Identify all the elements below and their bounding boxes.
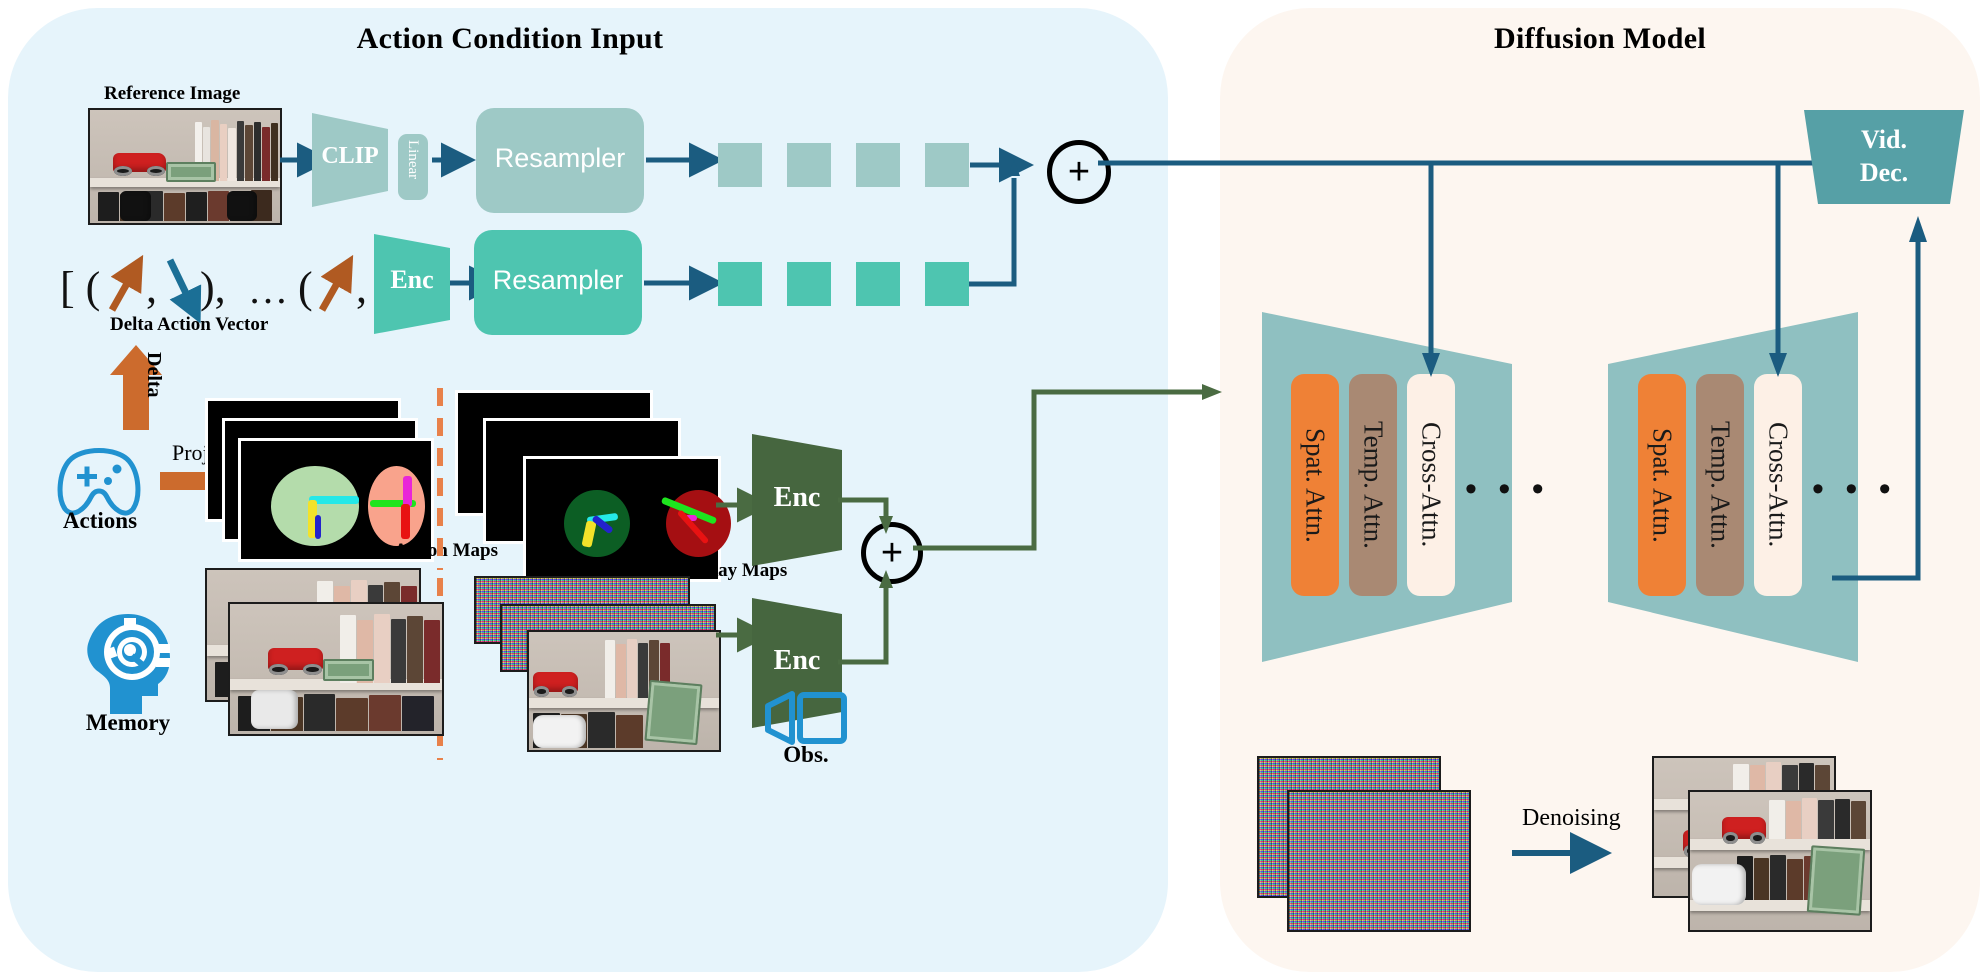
route-merge-to-unet <box>908 380 1228 560</box>
delta-vector-open-bracket: [ ( <box>60 262 100 313</box>
decoder-temp-attn-bar: Temp. Attn. <box>1696 374 1744 596</box>
gamepad-icon <box>55 445 143 517</box>
memory-frame-front <box>228 602 444 736</box>
memory-brain-icon <box>78 610 174 720</box>
route-obs-enc-to-merge <box>838 566 898 656</box>
delta-action-vector-label: Delta Action Vector <box>110 314 268 336</box>
dashed-separator-top <box>437 388 443 570</box>
reference-image-label: Reference Image <box>104 83 240 105</box>
video-decoder-label: Vid. Dec. <box>1804 124 1964 189</box>
condition-bus-lines <box>1098 155 1888 405</box>
delta-arrow-label: Delta <box>142 352 165 398</box>
encoder-spat-attn-bar: Spat. Attn. <box>1291 374 1339 596</box>
denoising-label: Denoising <box>1522 805 1621 832</box>
action-token-3 <box>856 262 900 306</box>
arrow-linear-to-resampler <box>432 145 482 175</box>
route-raymap-enc-to-merge <box>838 496 898 536</box>
resampler-image-label: Resampler <box>476 143 644 174</box>
unet-encoder-ellipsis: • • • <box>1465 472 1550 506</box>
encoder-cross-attn-bar: Cross-Attn. <box>1407 374 1455 596</box>
enc-raymap-label: Enc <box>752 482 842 514</box>
camera-obs-icon <box>762 690 846 746</box>
arrow-resampler-to-tokens-image <box>646 145 728 175</box>
denoised-output-card-front <box>1688 790 1872 932</box>
memory-label: Memory <box>60 710 196 736</box>
obs-card-front <box>527 630 721 752</box>
reference-image-thumbnail <box>88 108 282 225</box>
delta-arrow-up-right-2 <box>318 252 358 316</box>
action-token-2 <box>787 262 831 306</box>
linear-label: Linear <box>404 140 421 179</box>
resampler-action-label: Resampler <box>474 265 642 296</box>
video-decoder-line2: Dec. <box>1804 157 1964 190</box>
panel-title-diffusion-model: Diffusion Model <box>1430 22 1770 56</box>
route-action-tokens-to-merge <box>966 160 1046 300</box>
delta-vector-comma-1: , <box>146 262 157 313</box>
action-token-1 <box>718 262 762 306</box>
arrow-resampler-to-tokens-action <box>644 268 728 298</box>
delta-arrow-up-right-1 <box>108 252 148 316</box>
delta-vector-ellipsis: … <box>248 266 288 313</box>
video-decoder-line1: Vid. <box>1804 124 1964 157</box>
clip-label: CLIP <box>312 143 388 170</box>
panel-title-action-condition: Action Condition Input <box>330 22 690 56</box>
decoder-spat-attn-bar: Spat. Attn. <box>1638 374 1686 596</box>
action-token-4 <box>925 262 969 306</box>
enc-action-label: Enc <box>374 265 450 295</box>
decoder-cross-attn-bar: Cross-Attn. <box>1754 374 1802 596</box>
image-token-1 <box>718 143 762 187</box>
delta-vector-open-paren-2: ( <box>298 262 313 313</box>
route-decoder-to-video-decoder <box>1832 200 1952 600</box>
denoising-arrow <box>1512 840 1622 866</box>
enc-obs-label: Enc <box>752 645 842 677</box>
delta-vector-comma-2: , <box>356 262 367 313</box>
delta-vector-close-1: ), <box>200 262 226 313</box>
obs-label: Obs. <box>756 742 856 768</box>
noisy-output-card-front <box>1287 790 1471 932</box>
actions-label: Actions <box>50 508 150 534</box>
image-token-4 <box>925 143 969 187</box>
encoder-temp-attn-bar: Temp. Attn. <box>1349 374 1397 596</box>
image-token-3 <box>856 143 900 187</box>
image-token-2 <box>787 143 831 187</box>
